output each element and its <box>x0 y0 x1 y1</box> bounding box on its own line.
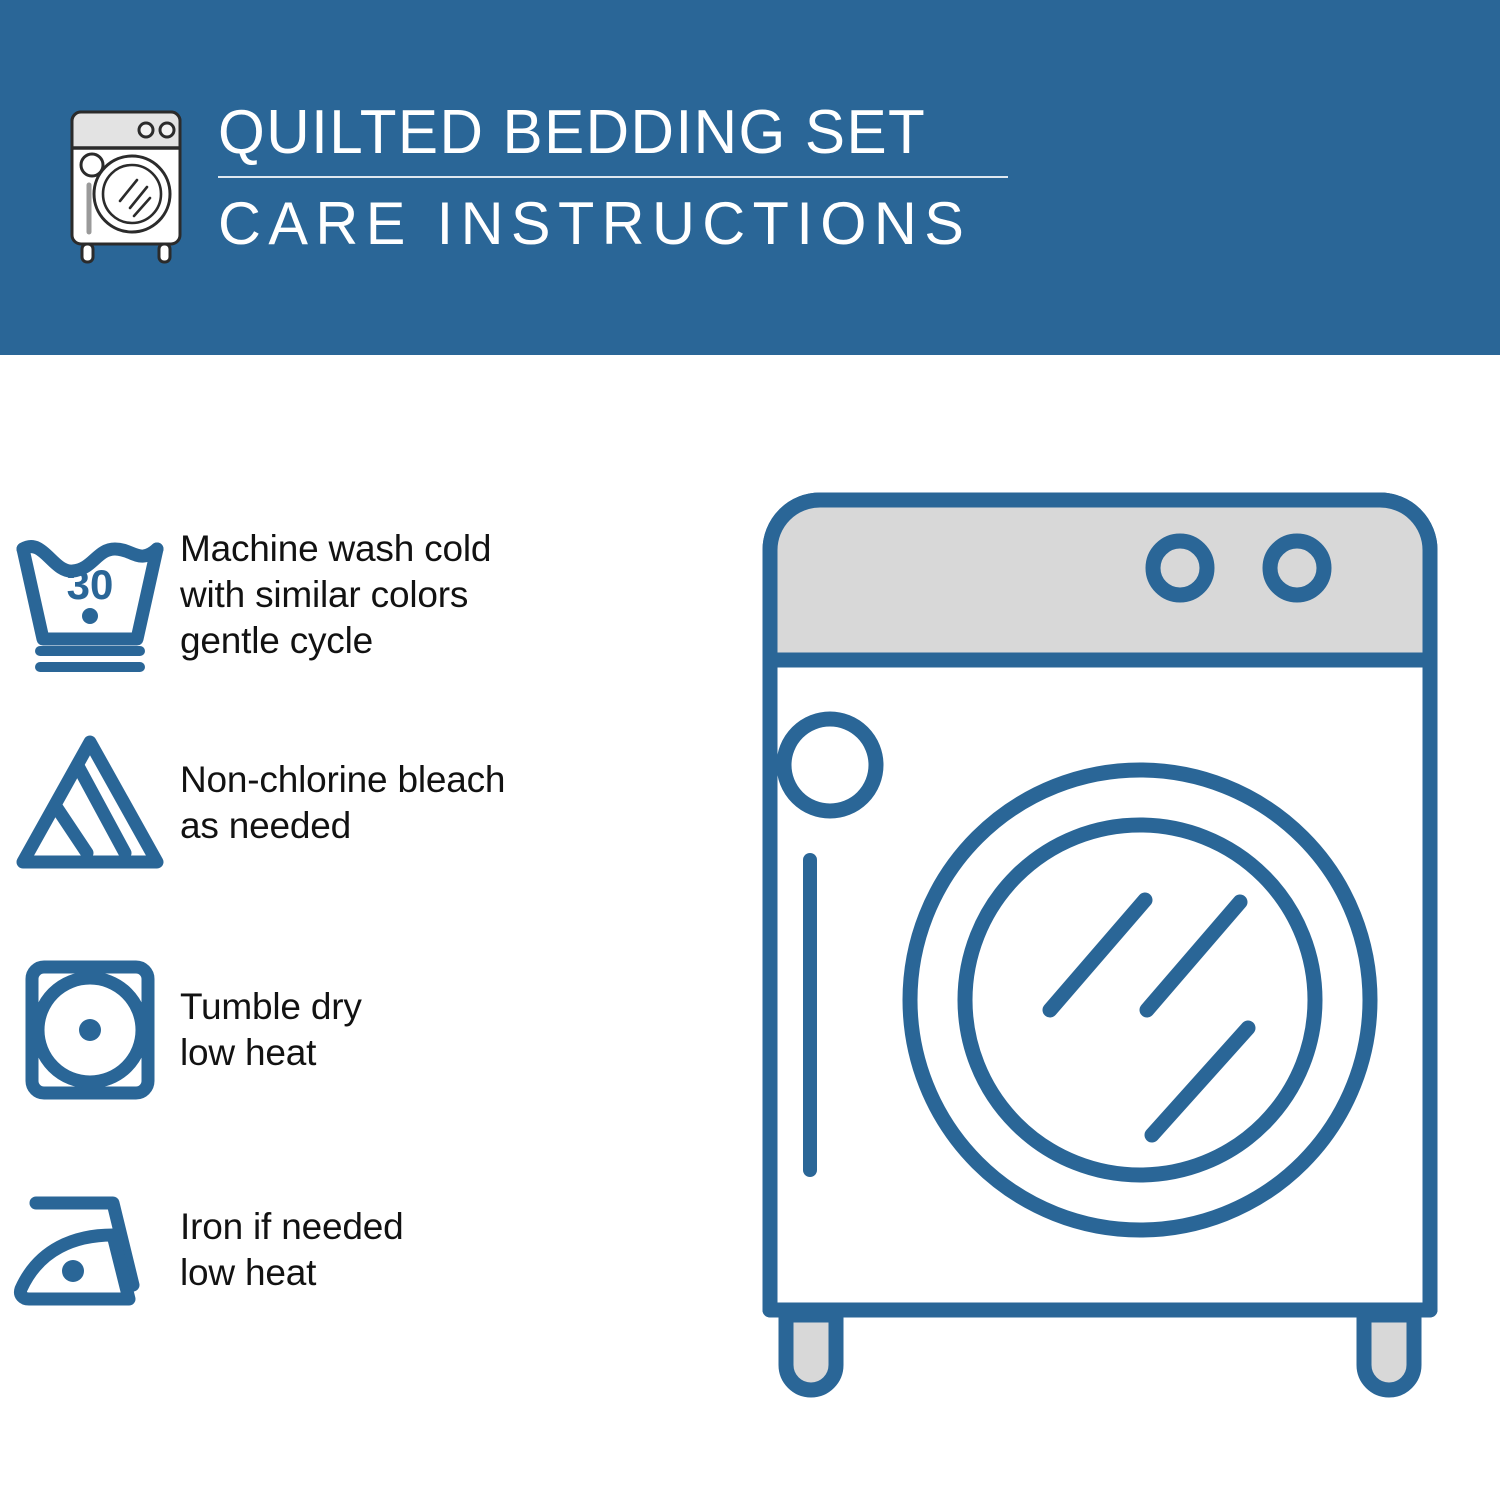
header-text-block: QUILTED BEDDING SET CARE INSTRUCTIONS <box>218 96 1018 260</box>
care-item-iron-label: Iron if needed low heat <box>180 1204 403 1296</box>
care-item-wash-label: Machine wash cold with similar colors ge… <box>180 526 491 664</box>
page-title: QUILTED BEDDING SET <box>218 96 994 170</box>
foot-left <box>786 1315 836 1390</box>
washing-machine-logo-icon <box>62 104 190 266</box>
tumble-dry-low-icon <box>0 955 180 1105</box>
care-item-bleach-label: Non-chlorine bleach as needed <box>180 757 505 849</box>
wash-temperature-value: 30 <box>67 561 114 608</box>
control-panel <box>770 500 1430 660</box>
wash-tub-30-icon: 30 <box>0 515 180 675</box>
non-chlorine-bleach-triangle-icon <box>0 728 180 878</box>
foot-right <box>1364 1315 1414 1390</box>
page-subtitle: CARE INSTRUCTIONS <box>218 188 1010 260</box>
care-instructions-list: 30 Machine wash cold with similar colors… <box>0 355 740 1500</box>
title-divider <box>218 176 1008 178</box>
header-banner: QUILTED BEDDING SET CARE INSTRUCTIONS <box>0 0 1500 355</box>
care-item-tumble-dry: Tumble dry low heat <box>0 945 740 1115</box>
iron-low-heat-icon <box>0 1185 180 1315</box>
front-load-washing-machine-illustration <box>740 470 1460 1400</box>
care-item-bleach: Non-chlorine bleach as needed <box>0 723 740 883</box>
care-item-tumble-dry-label: Tumble dry low heat <box>180 984 362 1076</box>
care-item-wash: 30 Machine wash cold with similar colors… <box>0 505 740 685</box>
care-item-iron: Iron if needed low heat <box>0 1175 740 1325</box>
